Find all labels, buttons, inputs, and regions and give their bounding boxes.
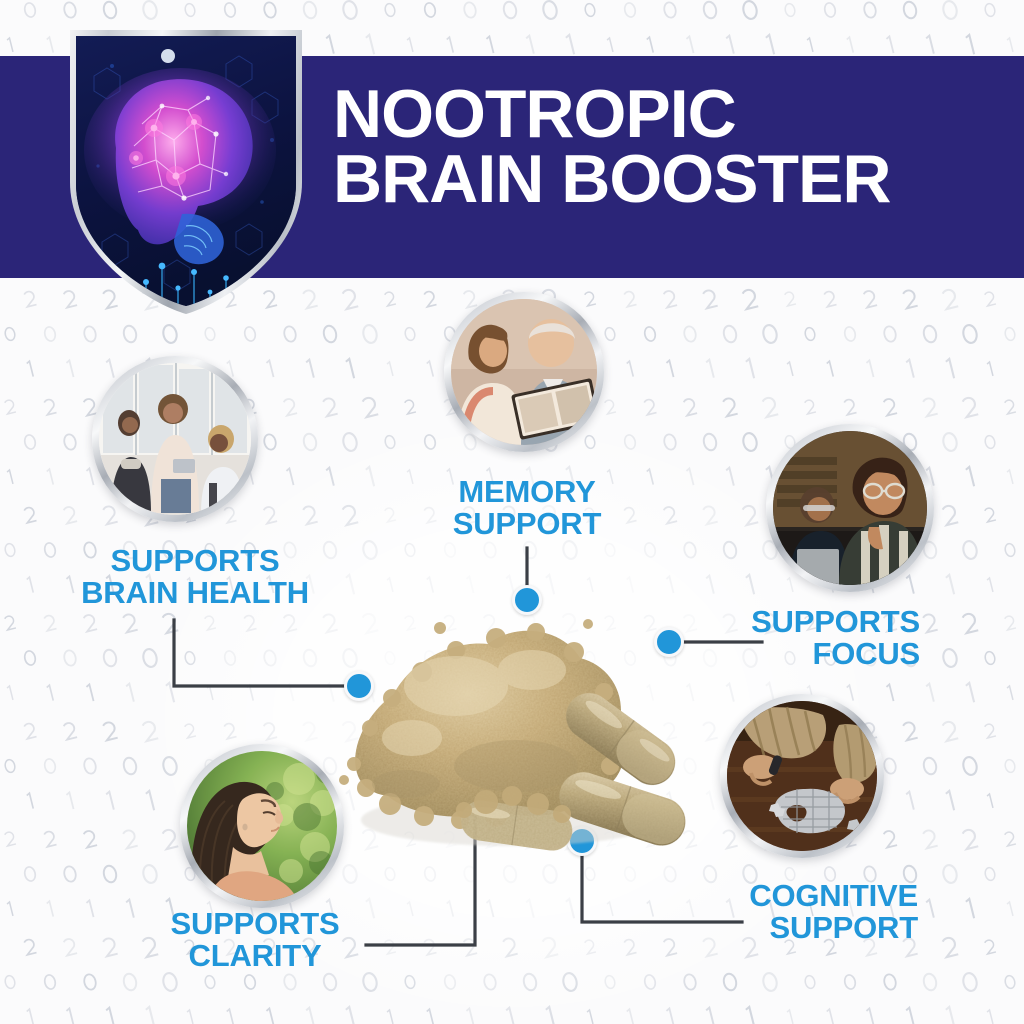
page-title: NOOTROPIC BRAIN BOOSTER bbox=[333, 82, 993, 213]
label-line-1: SUPPORTS bbox=[130, 908, 380, 940]
label-line-2: BRAIN HEALTH bbox=[30, 577, 360, 609]
feature-label-clarity: SUPPORTS CLARITY bbox=[130, 908, 380, 972]
label-line-1: COGNITIVE bbox=[660, 880, 918, 912]
feature-photo-focus bbox=[766, 424, 934, 592]
label-line-2: CLARITY bbox=[130, 940, 380, 972]
feature-photo-brain-health bbox=[92, 356, 258, 522]
feature-label-cognitive: COGNITIVE SUPPORT bbox=[660, 880, 918, 944]
brain-shield-badge bbox=[62, 22, 310, 322]
label-line-1: SUPPORTS bbox=[30, 545, 360, 577]
feature-photo-cognitive bbox=[720, 694, 884, 858]
photo-office-colleagues bbox=[99, 363, 251, 515]
label-line-2: FOCUS bbox=[690, 638, 920, 670]
label-line-1: MEMORY bbox=[402, 476, 652, 508]
photo-study-laptop bbox=[773, 431, 927, 585]
label-line-1: SUPPORTS bbox=[690, 606, 920, 638]
label-line-2: SUPPORT bbox=[660, 912, 918, 944]
product-powder-capsules bbox=[336, 588, 726, 868]
photo-jigsaw-puzzle bbox=[727, 701, 877, 851]
infographic-canvas: NOOTROPIC BRAIN BOOSTER bbox=[0, 0, 1024, 1024]
photo-woman-breathing-outdoors bbox=[187, 751, 337, 901]
label-line-2: SUPPORT bbox=[402, 508, 652, 540]
feature-photo-memory bbox=[444, 292, 604, 452]
feature-label-brain-health: SUPPORTS BRAIN HEALTH bbox=[30, 545, 360, 609]
shield-brain-image bbox=[76, 36, 296, 308]
title-line-2: BRAIN BOOSTER bbox=[333, 147, 993, 212]
photo-couple-album bbox=[451, 299, 597, 445]
feature-label-focus: SUPPORTS FOCUS bbox=[690, 606, 920, 670]
feature-label-memory: MEMORY SUPPORT bbox=[402, 476, 652, 540]
feature-photo-clarity bbox=[180, 744, 344, 908]
